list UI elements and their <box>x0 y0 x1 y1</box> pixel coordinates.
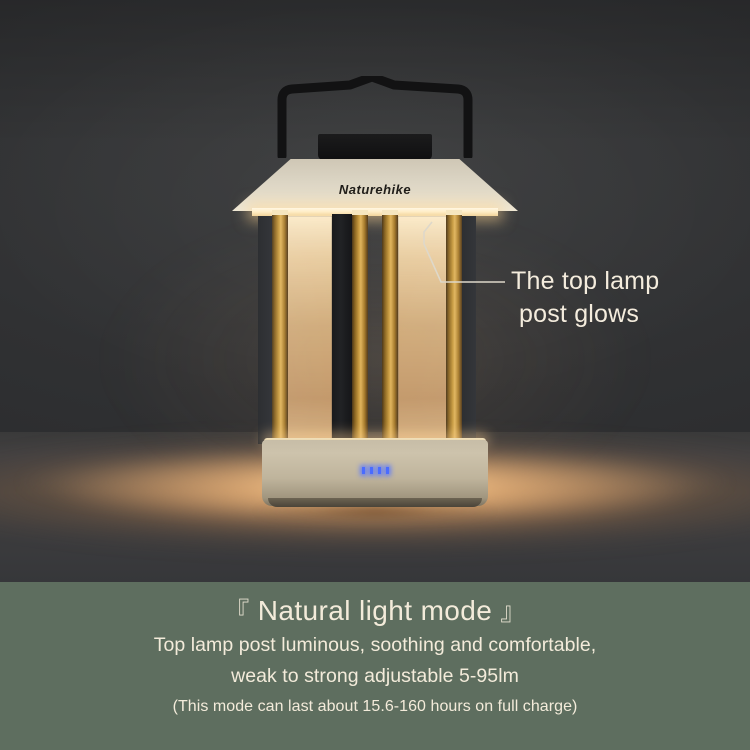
base-foot <box>268 498 482 507</box>
lantern-center-column <box>332 214 354 446</box>
callout-line-2: post glows <box>511 298 741 331</box>
led-indicator <box>386 467 389 474</box>
lamp-post-1 <box>272 212 288 448</box>
lamp-post-2 <box>352 212 368 448</box>
led-indicator <box>378 467 381 474</box>
panel-runtime-note: (This mode can last about 15.6-160 hours… <box>0 694 750 720</box>
lantern-gap-right <box>462 216 476 444</box>
glowing-light-panel-right <box>398 216 452 444</box>
lamp-post-cap-3 <box>382 210 398 215</box>
lamp-post-cap-2 <box>352 210 368 215</box>
lantern-gap-left <box>258 216 272 444</box>
lamp-post-3 <box>382 212 398 448</box>
lamp-post-4 <box>446 212 462 448</box>
callout-line-1: The top lamp <box>511 265 741 298</box>
info-panel: 『 Natural light mode 』 Top lamp post lum… <box>0 582 750 750</box>
lamp-post-cap-4 <box>446 210 462 215</box>
panel-title: 『 Natural light mode 』 <box>0 592 750 630</box>
led-indicator <box>362 467 365 474</box>
panel-description-line-1: Top lamp post luminous, soothing and com… <box>0 630 750 662</box>
battery-indicator-leds <box>262 464 488 476</box>
product-photo: Naturehike <box>0 0 750 582</box>
lamp-post-cap-1 <box>272 210 288 215</box>
product-feature-image: Naturehike <box>0 0 750 750</box>
lantern-top-cap <box>318 134 432 160</box>
bracket-close: 』 <box>500 598 525 626</box>
led-indicator <box>370 467 373 474</box>
panel-description-line-2: weak to strong adjustable 5-95lm <box>0 661 750 693</box>
panel-title-text: Natural light mode <box>258 595 492 626</box>
brand-logo-text: Naturehike <box>232 180 518 200</box>
callout-label: The top lamp post glows <box>511 265 741 331</box>
bracket-open: 『 <box>224 598 249 626</box>
